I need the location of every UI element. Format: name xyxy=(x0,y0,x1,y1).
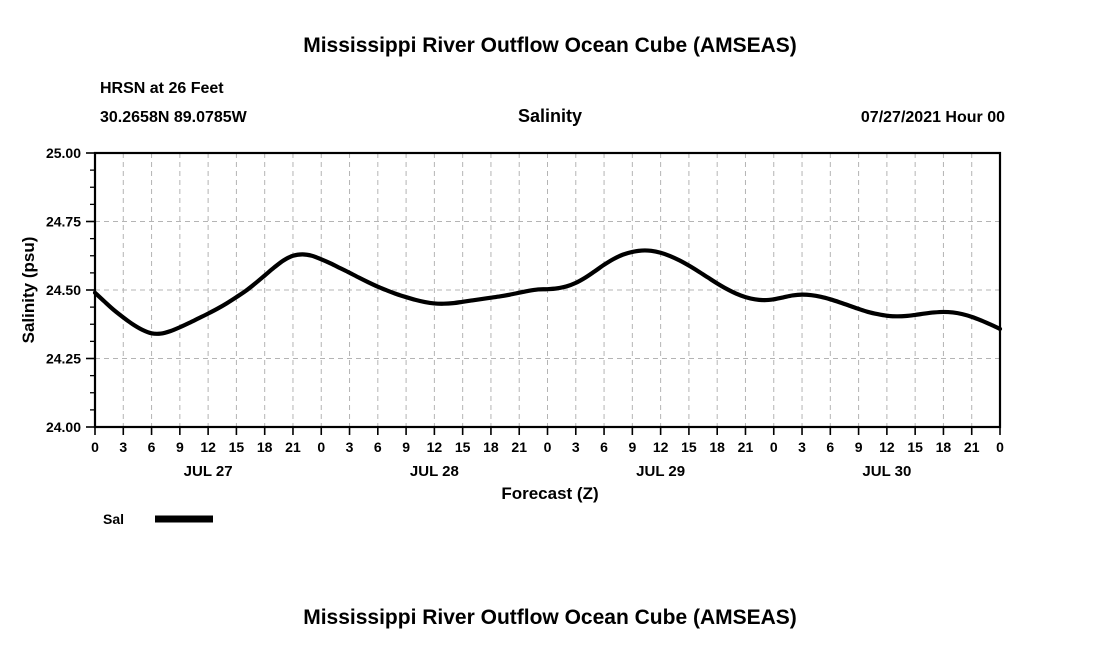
x-tick-label: 6 xyxy=(600,439,608,455)
x-tick-label: 21 xyxy=(738,439,754,455)
x-axis-day-label: JUL 28 xyxy=(410,463,459,480)
x-tick-label: 21 xyxy=(511,439,527,455)
x-axis-day-label: JUL 27 xyxy=(184,463,233,480)
x-tick-label: 21 xyxy=(285,439,301,455)
x-tick-label: 12 xyxy=(879,439,895,455)
x-tick-label: 21 xyxy=(964,439,980,455)
x-tick-label: 0 xyxy=(770,439,778,455)
x-axis-day-label: JUL 30 xyxy=(862,463,911,480)
x-tick-label: 18 xyxy=(483,439,499,455)
x-tick-label: 9 xyxy=(628,439,636,455)
x-tick-label: 3 xyxy=(119,439,127,455)
y-tick-label: 24.25 xyxy=(46,351,81,367)
x-tick-label: 18 xyxy=(709,439,725,455)
y-tick-label: 24.75 xyxy=(46,214,81,230)
figure-background xyxy=(0,0,1100,650)
x-tick-label: 15 xyxy=(455,439,471,455)
y-tick-label: 25.00 xyxy=(46,145,81,161)
x-tick-label: 6 xyxy=(826,439,834,455)
x-axis-title: Forecast (Z) xyxy=(501,484,598,503)
x-tick-label: 0 xyxy=(996,439,1004,455)
x-tick-label: 3 xyxy=(346,439,354,455)
x-tick-label: 0 xyxy=(544,439,552,455)
run-time-label: 07/27/2021 Hour 00 xyxy=(861,109,1005,126)
x-tick-label: 6 xyxy=(148,439,156,455)
x-tick-label: 0 xyxy=(317,439,325,455)
x-tick-label: 9 xyxy=(176,439,184,455)
x-tick-label: 0 xyxy=(91,439,99,455)
x-tick-label: 15 xyxy=(229,439,245,455)
y-tick-label: 24.00 xyxy=(46,419,81,435)
x-tick-label: 9 xyxy=(855,439,863,455)
x-axis-day-label: JUL 29 xyxy=(636,463,685,480)
page-title: Mississippi River Outflow Ocean Cube (AM… xyxy=(303,34,797,57)
station-label: HRSN at 26 Feet xyxy=(100,80,224,97)
plot-heading: Salinity xyxy=(518,106,582,126)
x-tick-label: 12 xyxy=(653,439,669,455)
x-tick-label: 12 xyxy=(200,439,216,455)
x-tick-label: 15 xyxy=(907,439,923,455)
salinity-forecast-figure: Mississippi River Outflow Ocean Cube (AM… xyxy=(0,0,1100,650)
x-tick-label: 3 xyxy=(572,439,580,455)
x-tick-label: 15 xyxy=(681,439,697,455)
x-tick-label: 18 xyxy=(936,439,952,455)
x-tick-label: 9 xyxy=(402,439,410,455)
x-tick-label: 18 xyxy=(257,439,273,455)
y-tick-label: 24.50 xyxy=(46,282,81,298)
x-tick-label: 12 xyxy=(427,439,443,455)
x-tick-label: 3 xyxy=(798,439,806,455)
coordinates-label: 30.2658N 89.0785W xyxy=(100,109,248,126)
x-tick-label: 6 xyxy=(374,439,382,455)
footer-title: Mississippi River Outflow Ocean Cube (AM… xyxy=(303,606,797,629)
y-axis-title: Salinity (psu) xyxy=(19,237,38,344)
legend-label-sal: Sal xyxy=(103,511,124,527)
